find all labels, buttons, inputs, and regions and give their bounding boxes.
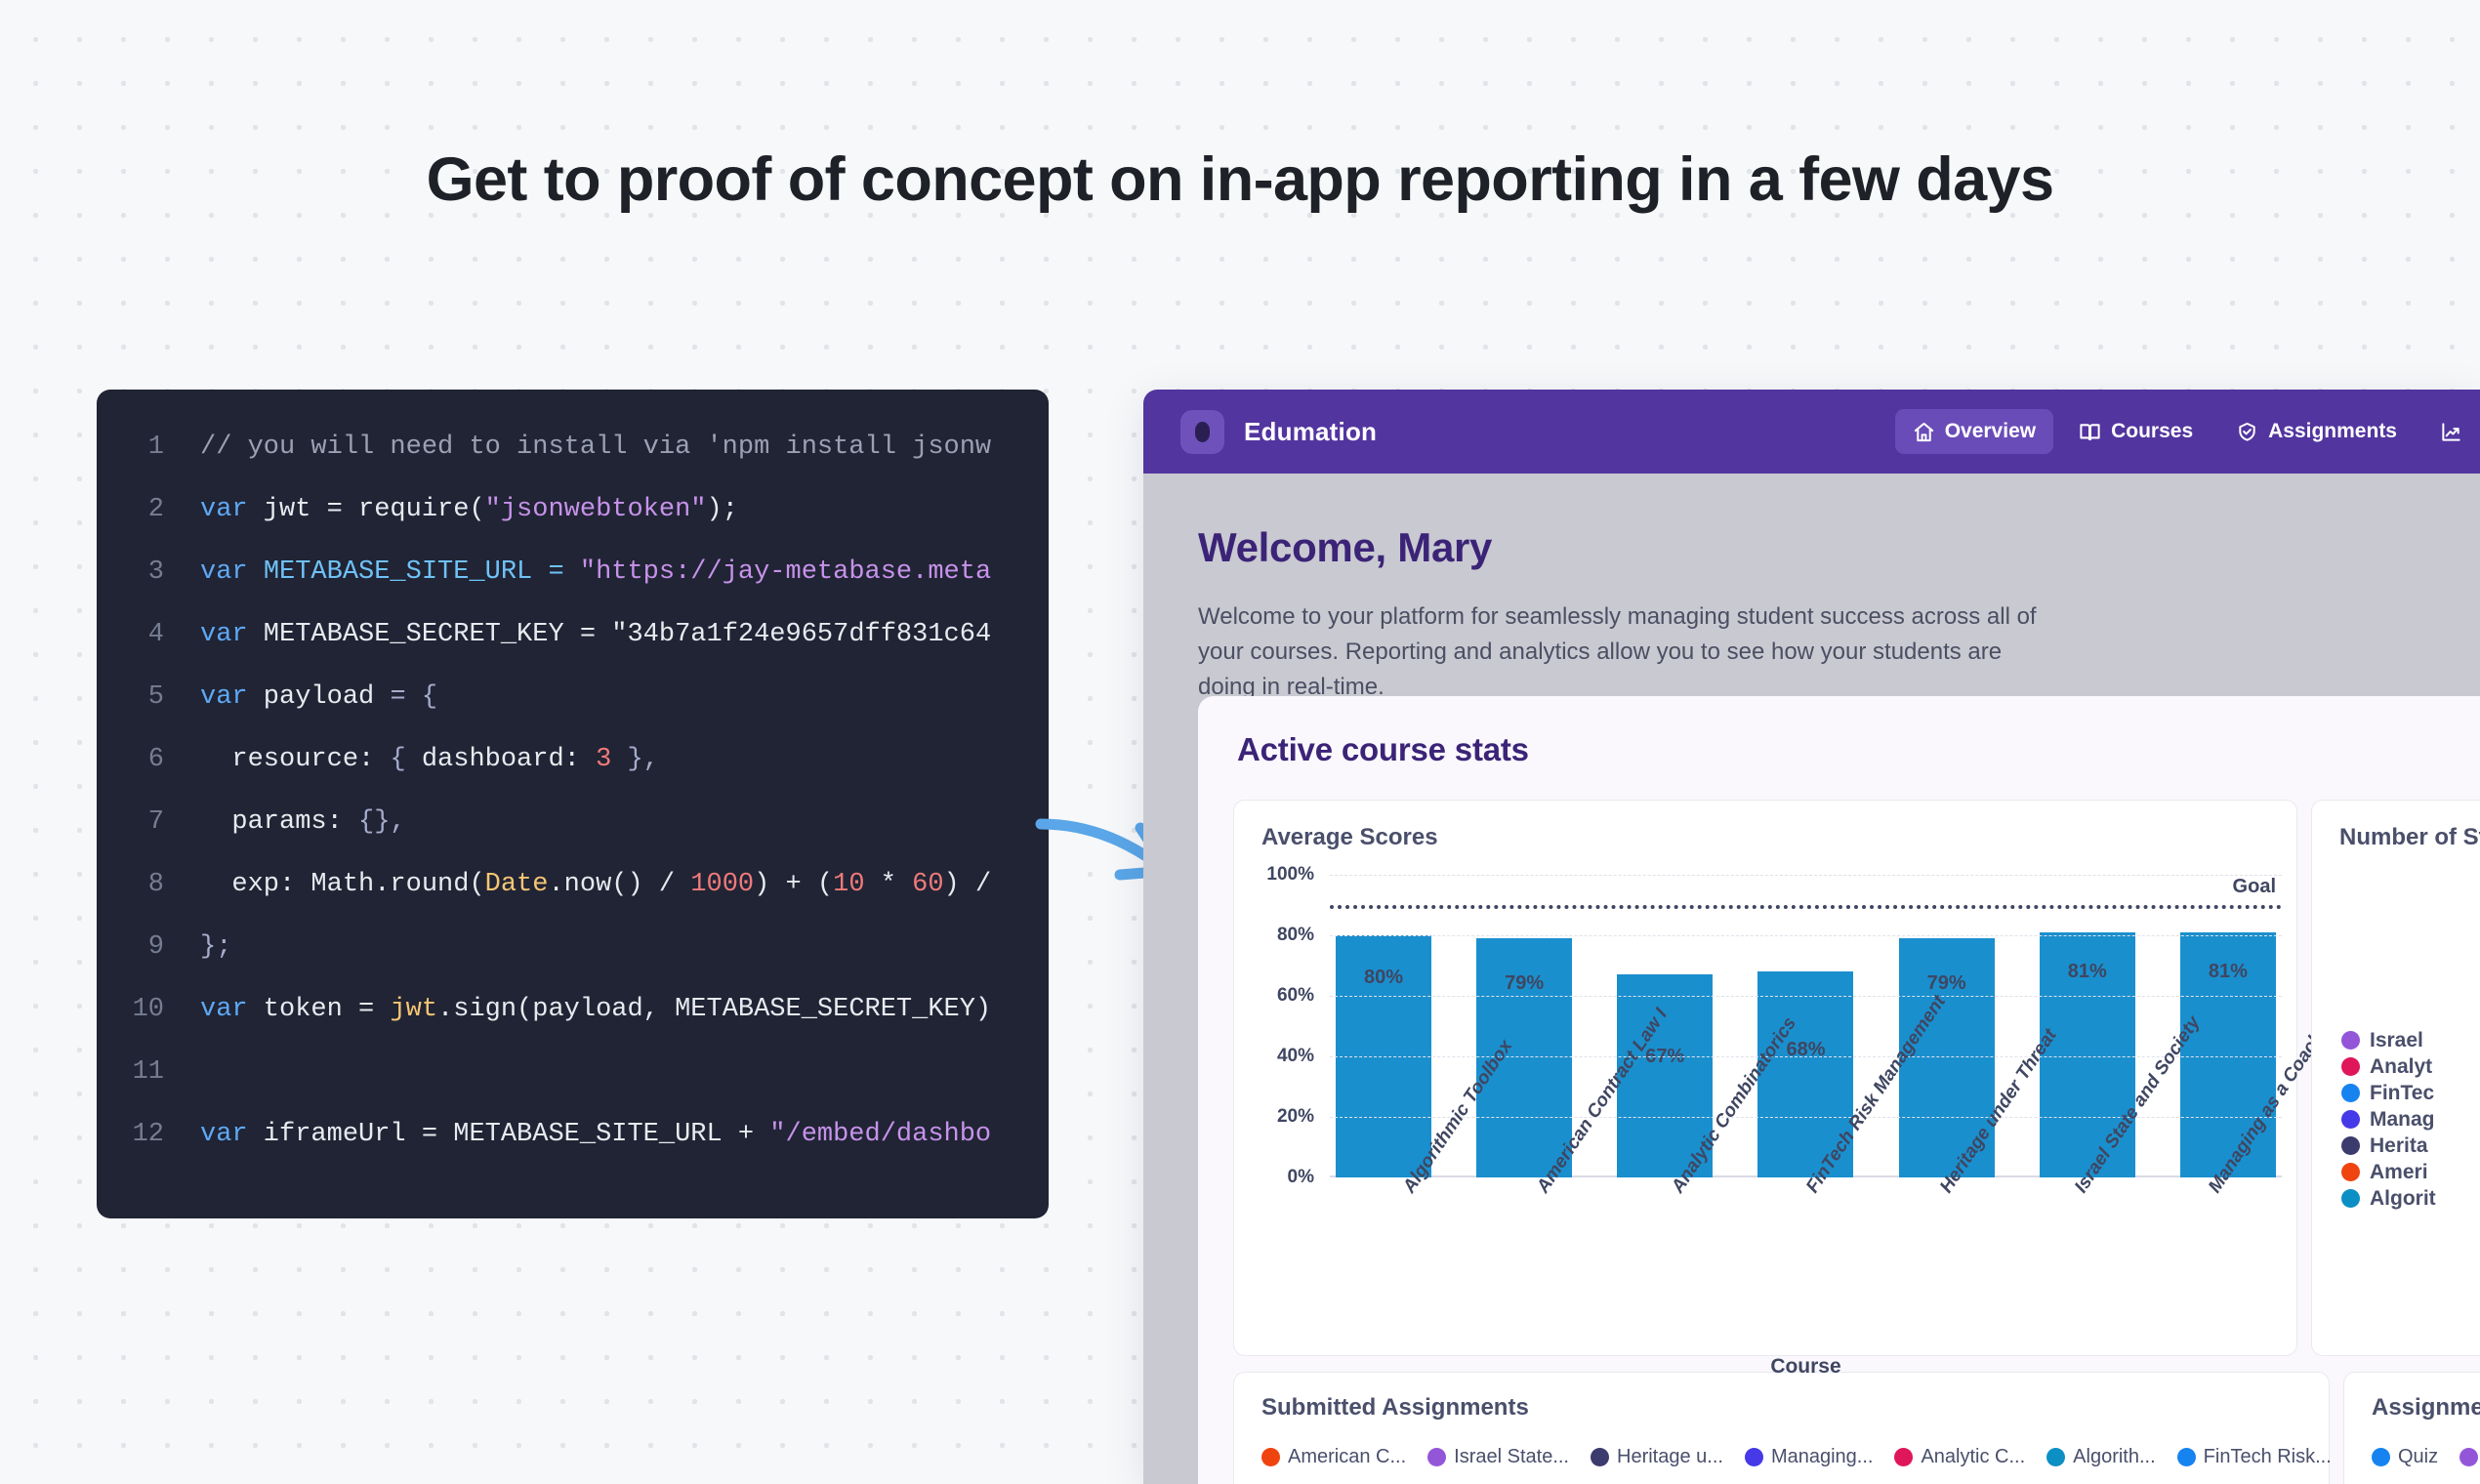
assignment-type-title: Assignment Ty bbox=[2372, 1394, 2480, 1422]
code-line: 8 exp: Math.round(Date.now() / 1000) + (… bbox=[97, 870, 1049, 932]
page-title: Get to proof of concept on in-app report… bbox=[0, 144, 2480, 215]
y-axis-tick: 20% bbox=[1277, 1106, 1314, 1128]
legend-label: Israel bbox=[2370, 1029, 2423, 1052]
gridline bbox=[1330, 996, 2282, 997]
legend-item[interactable]: Herita bbox=[2341, 1133, 2436, 1159]
book-icon bbox=[2079, 421, 2101, 443]
welcome-heading: Welcome, Mary bbox=[1198, 524, 2480, 571]
goal-line bbox=[1330, 905, 2282, 909]
legend-label: Quiz bbox=[2398, 1446, 2438, 1468]
badge-icon bbox=[2236, 421, 2258, 443]
legend-label: Algorit bbox=[2370, 1187, 2436, 1211]
gridline bbox=[1330, 935, 2282, 936]
line-number: 3 bbox=[97, 557, 200, 587]
y-axis-tick: 40% bbox=[1277, 1046, 1314, 1067]
legend-item[interactable]: FinTech Risk... bbox=[2177, 1446, 2332, 1468]
number-of-students-title: Number of Stud bbox=[2312, 801, 2480, 851]
code-text: var METABASE_SITE_URL = "https://jay-met… bbox=[200, 557, 1049, 587]
legend-color-dot bbox=[2341, 1189, 2360, 1208]
legend-label: Herita bbox=[2370, 1134, 2428, 1158]
legend-item[interactable]: American C... bbox=[1261, 1446, 1406, 1468]
code-text: var payload = { bbox=[200, 682, 1049, 712]
legend-item[interactable]: Analyt bbox=[2341, 1053, 2436, 1080]
nav-item-analytics[interactable] bbox=[2422, 410, 2480, 454]
embedded-dashboard-window: Edumation OverviewCoursesAssignments Wel… bbox=[1143, 390, 2480, 1484]
legend-color-dot bbox=[2341, 1136, 2360, 1155]
submitted-assignments-title: Submitted Assignments bbox=[1261, 1394, 2329, 1422]
goal-label: Goal bbox=[2233, 876, 2276, 898]
legend-label: Manag bbox=[2370, 1108, 2435, 1132]
legend-item[interactable]: Analytic C... bbox=[1894, 1446, 2025, 1468]
legend-label: Analytic C... bbox=[1921, 1446, 2025, 1468]
line-number: 2 bbox=[97, 495, 200, 524]
line-number: 1 bbox=[97, 433, 200, 462]
active-course-stats-card: Active course stats Average Scores 100%8… bbox=[1198, 696, 2480, 1484]
bar-value-label: 81% bbox=[2209, 961, 2248, 983]
home-icon bbox=[1913, 421, 1935, 443]
legend-color-dot bbox=[2341, 1110, 2360, 1129]
legend-label: Israel State... bbox=[1454, 1446, 1569, 1468]
nav-item-label: Courses bbox=[2111, 420, 2193, 443]
legend-label: Algorith... bbox=[2073, 1446, 2155, 1468]
line-number: 5 bbox=[97, 682, 200, 712]
average-scores-panel: Average Scores 100%80%60%40%20%0% 80%79%… bbox=[1233, 800, 2297, 1356]
line-number: 12 bbox=[97, 1120, 200, 1149]
bar-series: 80%79%67%68%79%81%81% bbox=[1330, 875, 2282, 1177]
plot-area: 80%79%67%68%79%81%81% Goal bbox=[1330, 875, 2282, 1177]
y-axis-tick: 0% bbox=[1288, 1167, 1314, 1188]
legend-color-dot bbox=[2372, 1448, 2390, 1466]
legend-item[interactable]: Manag bbox=[2341, 1106, 2436, 1133]
bar-value-label: 68% bbox=[1786, 1039, 1825, 1061]
students-legend: Israel AnalytFinTecManagHeritaAmeriAlgor… bbox=[2341, 1027, 2436, 1212]
line-number: 10 bbox=[97, 995, 200, 1024]
bar-value-label: 81% bbox=[2068, 961, 2107, 983]
average-scores-title: Average Scores bbox=[1234, 801, 2296, 851]
assignment-type-legend: QuizProje bbox=[2372, 1446, 2480, 1468]
legend-item[interactable]: Quiz bbox=[2372, 1446, 2438, 1468]
code-line: 9}; bbox=[97, 932, 1049, 995]
code-line: 10var token = jwt.sign(payload, METABASE… bbox=[97, 995, 1049, 1057]
legend-label: Analyt bbox=[2370, 1055, 2432, 1079]
chart-trend-icon bbox=[2440, 421, 2462, 443]
legend-color-dot bbox=[2341, 1163, 2360, 1181]
legend-label: Heritage u... bbox=[1617, 1446, 1723, 1468]
bar-chart: 100%80%60%40%20%0% 80%79%67%68%79%81%81%… bbox=[1261, 875, 2296, 1265]
code-snippet-panel: 1// you will need to install via 'npm in… bbox=[97, 390, 1049, 1218]
bar-item[interactable]: 81% bbox=[2180, 932, 2276, 1177]
code-line: 5var payload = { bbox=[97, 682, 1049, 745]
nav-item-courses[interactable]: Courses bbox=[2061, 409, 2211, 454]
code-line: 12var iframeUrl = METABASE_SITE_URL + "/… bbox=[97, 1120, 1049, 1182]
line-number: 6 bbox=[97, 745, 200, 774]
legend-label: Ameri bbox=[2370, 1161, 2428, 1184]
legend-label: Managing... bbox=[1771, 1446, 1874, 1468]
submitted-assignments-panel: Submitted Assignments American C...Israe… bbox=[1233, 1372, 2330, 1484]
y-axis-tick: 80% bbox=[1277, 925, 1314, 946]
legend-label: FinTec bbox=[2370, 1082, 2434, 1105]
gridline bbox=[1330, 875, 2282, 876]
code-text: var jwt = require("jsonwebtoken"); bbox=[200, 495, 1049, 524]
legend-item[interactable]: Heritage u... bbox=[1591, 1446, 1723, 1468]
y-axis-tick: 100% bbox=[1266, 864, 1314, 886]
x-axis-labels: Algorithmic ToolboxAmerican Contract Law… bbox=[1330, 1185, 2282, 1341]
legend-item[interactable]: Israel State... bbox=[1427, 1446, 1569, 1468]
legend-label: FinTech Risk... bbox=[2204, 1446, 2332, 1468]
code-line: 1// you will need to install via 'npm in… bbox=[97, 433, 1049, 495]
nav-item-overview[interactable]: Overview bbox=[1895, 409, 2053, 454]
assignment-type-panel: Assignment Ty QuizProje bbox=[2343, 1372, 2480, 1484]
legend-color-dot bbox=[1261, 1448, 1280, 1466]
legend-item[interactable]: Managing... bbox=[1745, 1446, 1874, 1468]
line-number: 11 bbox=[97, 1057, 200, 1087]
legend-item[interactable]: Proje bbox=[2459, 1446, 2480, 1468]
nav-item-label: Overview bbox=[1945, 420, 2036, 443]
line-number: 7 bbox=[97, 807, 200, 837]
code-text: resource: { dashboard: 3 }, bbox=[200, 745, 1049, 774]
legend-color-dot bbox=[1427, 1448, 1446, 1466]
y-axis-tick: 60% bbox=[1277, 985, 1314, 1007]
code-line: 4var METABASE_SECRET_KEY = "34b7a1f24e96… bbox=[97, 620, 1049, 682]
code-text: params: {}, bbox=[200, 807, 1049, 837]
legend-item[interactable]: Ameri bbox=[2341, 1159, 2436, 1185]
app-logo-icon bbox=[1180, 410, 1224, 454]
main-navigation: OverviewCoursesAssignments bbox=[1895, 409, 2480, 454]
code-line: 6 resource: { dashboard: 3 }, bbox=[97, 745, 1049, 807]
nav-item-assignments[interactable]: Assignments bbox=[2218, 409, 2415, 454]
bar-value-label: 79% bbox=[1505, 972, 1544, 995]
legend-color-dot bbox=[2046, 1448, 2065, 1466]
welcome-description: Welcome to your platform for seamlessly … bbox=[1198, 599, 2057, 705]
nav-item-label: Assignments bbox=[2268, 420, 2397, 443]
number-of-students-panel: Number of Stud Israel AnalytFinTecManagH… bbox=[2311, 800, 2480, 1356]
legend-item[interactable]: FinTec bbox=[2341, 1080, 2436, 1106]
legend-color-dot bbox=[2341, 1084, 2360, 1102]
code-text: exp: Math.round(Date.now() / 1000) + (10… bbox=[200, 870, 1049, 899]
legend-color-dot bbox=[1745, 1448, 1763, 1466]
legend-color-dot bbox=[1591, 1448, 1609, 1466]
x-axis-title: Course bbox=[1330, 1355, 2282, 1379]
dashboard-body: Welcome, Mary Welcome to your platform f… bbox=[1143, 474, 2480, 1484]
code-text: var token = jwt.sign(payload, METABASE_S… bbox=[200, 995, 1049, 1024]
legend-item[interactable]: Algorith... bbox=[2046, 1446, 2155, 1468]
code-text: }; bbox=[200, 932, 1049, 962]
legend-color-dot bbox=[1894, 1448, 1913, 1466]
submitted-assignments-legend: American C...Israel State...Heritage u..… bbox=[1261, 1446, 2329, 1468]
app-brand-name: Edumation bbox=[1244, 417, 1377, 447]
code-text: var iframeUrl = METABASE_SITE_URL + "/em… bbox=[200, 1120, 1049, 1149]
code-line: 2var jwt = require("jsonwebtoken"); bbox=[97, 495, 1049, 557]
code-text: // you will need to install via 'npm ins… bbox=[200, 433, 1049, 462]
code-line: 7 params: {}, bbox=[97, 807, 1049, 870]
line-number: 4 bbox=[97, 620, 200, 649]
line-number: 9 bbox=[97, 932, 200, 962]
code-text: var METABASE_SECRET_KEY = "34b7a1f24e965… bbox=[200, 620, 1049, 649]
legend-item[interactable]: Algorit bbox=[2341, 1185, 2436, 1212]
app-header: Edumation OverviewCoursesAssignments bbox=[1143, 390, 2480, 474]
legend-color-dot bbox=[2341, 1031, 2360, 1050]
legend-label: American C... bbox=[1288, 1446, 1406, 1468]
code-line: 11 bbox=[97, 1057, 1049, 1120]
card-heading: Active course stats bbox=[1198, 731, 2480, 768]
code-line: 3var METABASE_SITE_URL = "https://jay-me… bbox=[97, 557, 1049, 620]
line-number: 8 bbox=[97, 870, 200, 899]
legend-item[interactable]: Israel bbox=[2341, 1027, 2436, 1053]
legend-color-dot bbox=[2177, 1448, 2196, 1466]
legend-color-dot bbox=[2459, 1448, 2478, 1466]
legend-color-dot bbox=[2341, 1057, 2360, 1076]
bar-value-label: 80% bbox=[1364, 967, 1403, 989]
y-axis: 100%80%60%40%20%0% bbox=[1261, 875, 1322, 1177]
gridline bbox=[1330, 1056, 2282, 1057]
